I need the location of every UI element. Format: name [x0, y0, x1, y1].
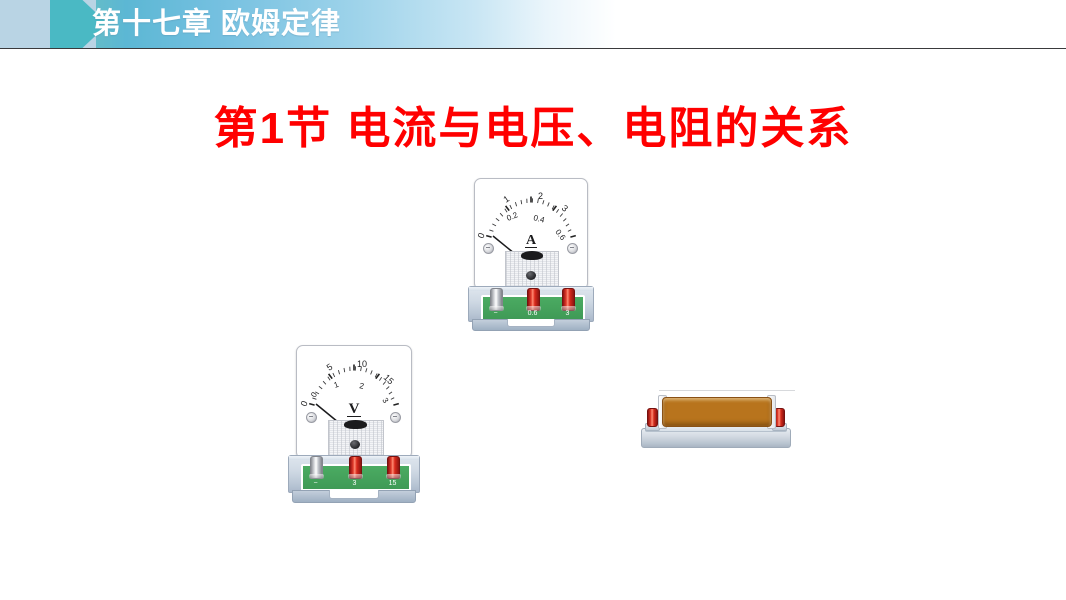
svg-text:V: V [349, 401, 360, 417]
ammeter-needle-pivot [521, 251, 543, 260]
svg-text:0.4: 0.4 [533, 213, 547, 225]
svg-text:0: 0 [309, 390, 319, 399]
voltmeter-foot [292, 490, 416, 503]
ammeter-base: − 0.6 3 [468, 286, 594, 322]
voltmeter-terminal-label-15: 15 [380, 480, 405, 487]
voltmeter-terminal-panel: − 3 15 [301, 464, 411, 491]
coil-hairline-artifact [659, 390, 795, 391]
ammeter-foot [472, 319, 590, 331]
ammeter-screw-left [483, 243, 494, 254]
voltmeter-case: 0 5 10 15 0 1 2 3 V [296, 345, 412, 459]
svg-text:A: A [526, 233, 537, 248]
voltmeter-terminal-15[interactable] [387, 456, 400, 479]
ammeter-terminal-negative[interactable] [490, 288, 503, 311]
svg-text:2: 2 [359, 381, 366, 391]
ammeter: 0 1 2 3 0.2 0.4 0.6 A [468, 178, 596, 330]
voltmeter-base: − 3 15 [288, 455, 420, 493]
svg-text:0: 0 [476, 231, 487, 239]
ammeter-terminal-panel: − 0.6 3 [481, 295, 585, 321]
coil-winding-cylinder [662, 397, 772, 427]
ammeter-foot-notch [507, 319, 555, 327]
chapter-header-banner: 第十七章 欧姆定律 [0, 0, 1066, 48]
voltmeter-foot-notch [329, 490, 379, 499]
svg-text:0.6: 0.6 [553, 228, 567, 243]
page-title: 第1节 电流与电压、电阻的关系 [0, 92, 1066, 156]
ammeter-terminal-3[interactable] [562, 288, 575, 311]
voltmeter-terminal-3[interactable] [349, 456, 362, 479]
ammeter-terminal-label-negative: − [483, 310, 508, 317]
resistance-coil [641, 390, 789, 450]
voltmeter-terminal-negative[interactable] [310, 456, 323, 479]
voltmeter-screw-right [390, 412, 401, 423]
ammeter-zero-adjust-screw[interactable] [526, 271, 536, 280]
ammeter-terminal-0.6[interactable] [527, 288, 540, 311]
ammeter-case: 0 1 2 3 0.2 0.4 0.6 A [474, 178, 588, 290]
chapter-title: 第十七章 欧姆定律 [92, 6, 341, 42]
svg-text:3: 3 [560, 203, 570, 214]
voltmeter: 0 5 10 15 0 1 2 3 V [288, 345, 420, 503]
svg-text:0: 0 [299, 399, 310, 407]
svg-text:10: 10 [357, 359, 367, 369]
header-divider-rule [0, 48, 1066, 49]
ammeter-terminal-label-0.6: 0.6 [520, 310, 545, 317]
voltmeter-screw-left [306, 412, 317, 423]
svg-text:1: 1 [333, 380, 341, 390]
coil-terminal-left[interactable] [647, 408, 658, 427]
ammeter-terminal-label-3: 3 [555, 310, 580, 317]
voltmeter-needle-pivot [344, 420, 367, 429]
svg-text:0.2: 0.2 [505, 210, 519, 223]
svg-text:1: 1 [501, 194, 511, 205]
svg-text:3: 3 [380, 396, 390, 405]
voltmeter-terminal-label-3: 3 [342, 480, 367, 487]
svg-text:2: 2 [538, 191, 543, 201]
svg-text:5: 5 [325, 362, 335, 373]
voltmeter-terminal-label-negative: − [303, 480, 328, 487]
ammeter-screw-right [567, 243, 578, 254]
voltmeter-zero-adjust-screw[interactable] [350, 440, 360, 449]
